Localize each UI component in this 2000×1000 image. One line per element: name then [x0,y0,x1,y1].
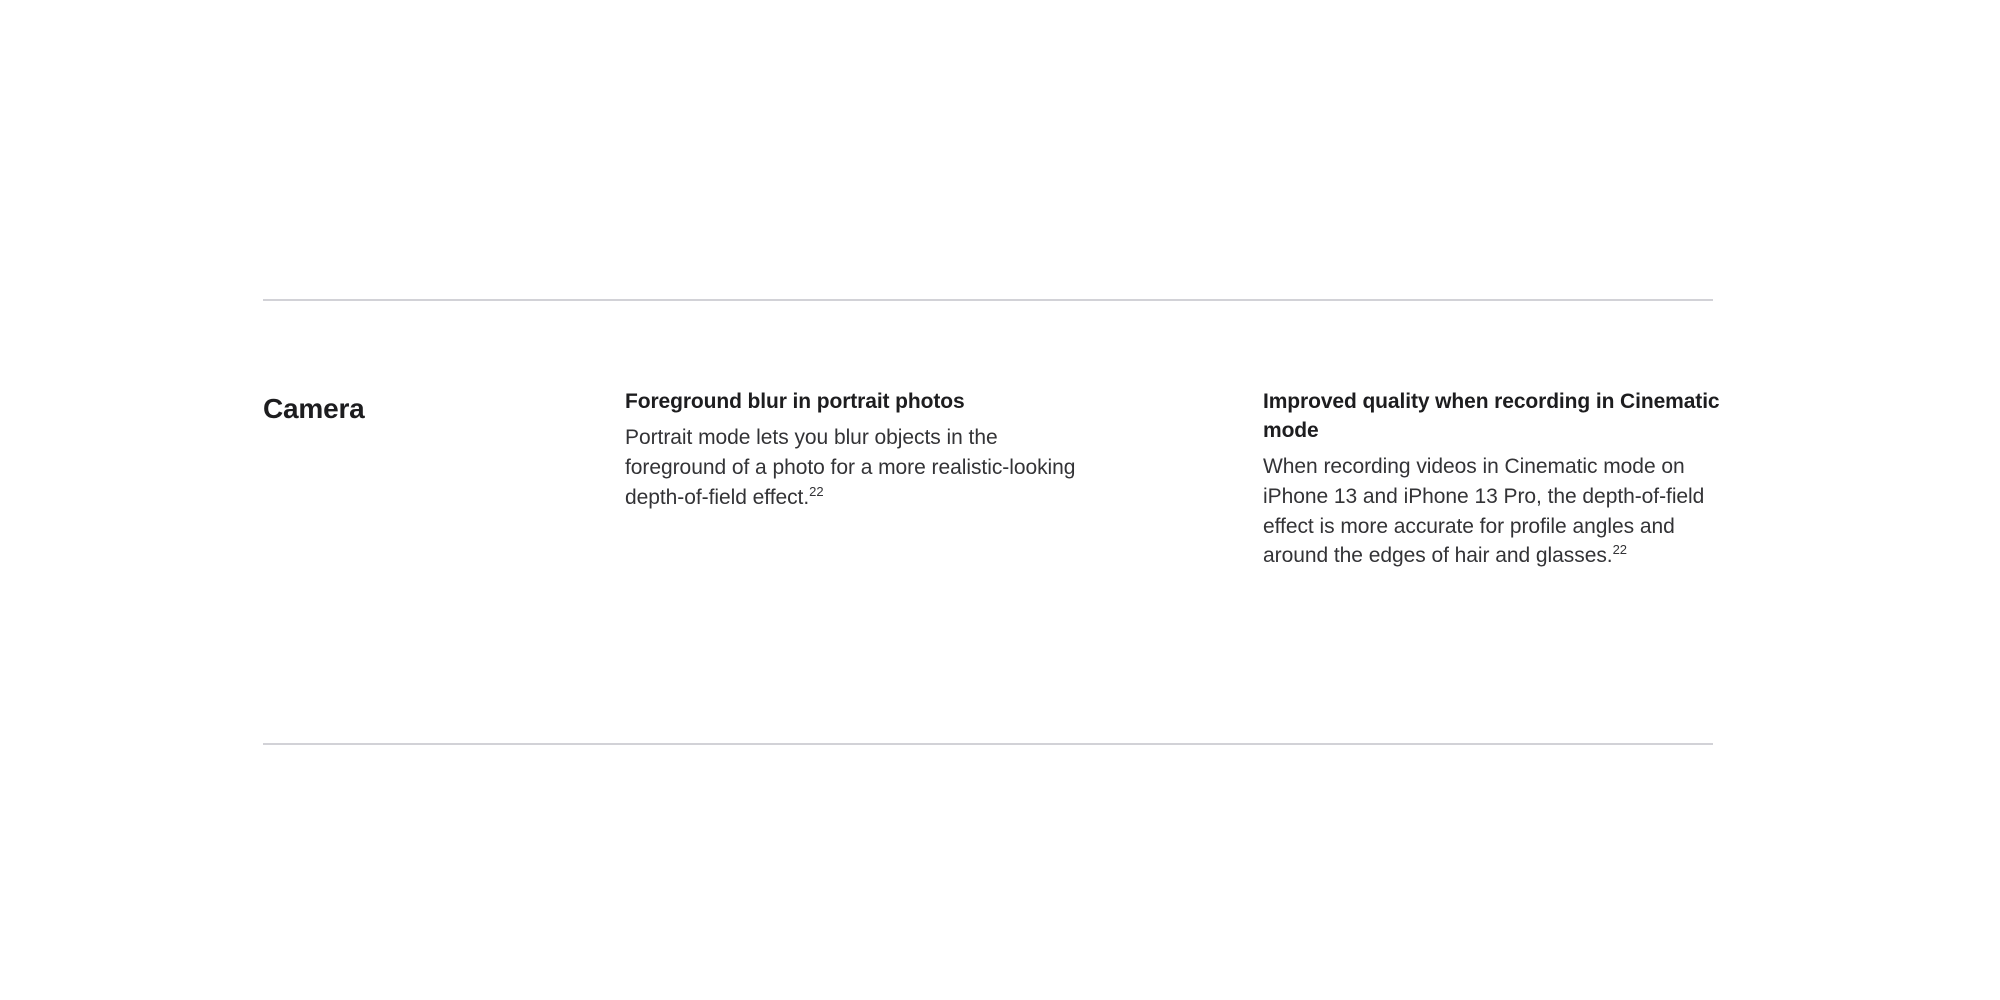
feature-item-foreground-blur: Foreground blur in portrait photos Portr… [625,388,1085,512]
feature-description-text: When recording videos in Cinematic mode … [1263,455,1704,567]
feature-description-text: Portrait mode lets you blur objects in t… [625,426,1075,509]
feature-row: Camera Foreground blur in portrait photo… [263,388,1713,571]
footnote-marker: 22 [1613,542,1627,557]
feature-title: Foreground blur in portrait photos [625,388,1085,417]
feature-item-cinematic-mode: Improved quality when recording in Cinem… [1263,388,1723,571]
section-divider-bottom [263,743,1713,745]
footnote-marker: 22 [809,484,823,499]
page-title: Camera [263,392,625,426]
section-divider-top [263,299,1713,301]
feature-section-page: Camera Foreground blur in portrait photo… [0,0,2000,1000]
feature-title: Improved quality when recording in Cinem… [1263,388,1723,446]
category-column: Camera [263,388,625,426]
feature-description: Portrait mode lets you blur objects in t… [625,423,1085,512]
feature-description: When recording videos in Cinematic mode … [1263,452,1723,571]
